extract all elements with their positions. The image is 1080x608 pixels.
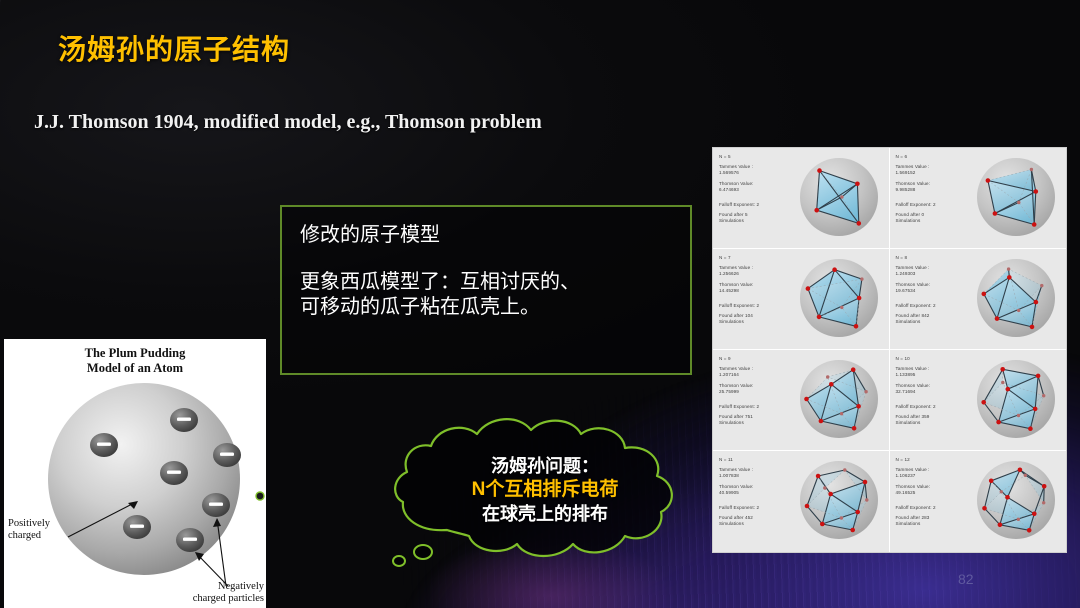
cell-falloff-exponent: Falloff Exponent: 2 <box>719 505 793 511</box>
cell-tammes-value: Tammes Value :1.569152 <box>896 164 970 176</box>
cell-falloff-exponent: Falloff Exponent: 2 <box>719 303 793 309</box>
cell-tammes-value: Tammes Value :1.256626 <box>719 265 793 277</box>
page-subtitle: J.J. Thomson 1904, modified model, e.g.,… <box>34 111 542 134</box>
cell-falloff-exponent: Falloff Exponent: 2 <box>896 404 970 410</box>
cell-thomson-value: Thomson Value:6.474693 <box>719 181 793 193</box>
cell-tammes-value: Tammes Value :1.133895 <box>896 366 970 378</box>
negative-label-line-2: charged particles <box>193 593 264 605</box>
thomson-polyhedron-render <box>968 453 1064 552</box>
thomson-cell-n8: N = 8Tammes Value :1.249303Thomson Value… <box>890 249 1067 350</box>
thomson-polyhedron-render <box>791 453 887 552</box>
page-title: 汤姆孙的原子结构 <box>58 28 290 68</box>
cell-falloff-exponent: Falloff Exponent: 2 <box>896 202 970 208</box>
cell-thomson-value: Thomson Value:25.75999 <box>719 383 793 395</box>
cell-tammes-value: Tammes Value :1.106237 <box>896 467 970 479</box>
cell-tammes-value: Tammes Value :1.007838 <box>719 467 793 479</box>
cell-thomson-value: Thomson Value:19.67534 <box>896 282 970 294</box>
polyhedron-sphere-icon <box>968 150 1064 244</box>
cell-thomson-value: Thomson Value:14.45298 <box>719 282 793 294</box>
cloud-line-1: 汤姆孙问题： <box>385 454 705 478</box>
thomson-problem-cloud-callout: 汤姆孙问题： N个互相排斥电荷 在球壳上的排布 <box>385 412 705 570</box>
cloud-line-3: 在球壳上的排布 <box>385 502 705 526</box>
thomson-cell-info: N = 10Tammes Value :1.133895Thomson Valu… <box>896 356 970 431</box>
thomson-polyhedron-render <box>968 150 1064 249</box>
polyhedron-sphere-icon <box>791 352 887 446</box>
thomson-polyhedron-render <box>791 352 887 451</box>
thomson-cell-info: N = 8Tammes Value :1.249303Thomson Value… <box>896 255 970 330</box>
thomson-polyhedron-render <box>968 352 1064 451</box>
page-number: 82 <box>958 571 974 587</box>
plum-pudding-negative-label: Negatively charged particles <box>193 581 264 605</box>
plum-pudding-diagram-icon <box>4 339 266 608</box>
thomson-cell-info: N = 5Tammes Value :1.569576Thomson Value… <box>719 154 793 229</box>
thomson-cell-n11: N = 11Tammes Value :1.007838Thomson Valu… <box>713 451 890 552</box>
cell-found-after: Found after 751Simulations <box>719 414 793 426</box>
thomson-polyhedron-render <box>791 150 887 249</box>
polyhedron-sphere-icon <box>791 453 887 547</box>
cell-n-label: N = 9 <box>719 356 793 362</box>
cell-falloff-exponent: Falloff Exponent: 2 <box>896 505 970 511</box>
polyhedron-sphere-icon <box>968 251 1064 345</box>
model-description-box: 修改的原子模型 更象西瓜模型了：互相讨厌的、 可移动的瓜子粘在瓜壳上。 <box>280 205 692 375</box>
thomson-cell-info: N = 9Tammes Value :1.207164Thomson Value… <box>719 356 793 431</box>
cell-falloff-exponent: Falloff Exponent: 2 <box>719 404 793 410</box>
cell-n-label: N = 6 <box>896 154 970 160</box>
thomson-cell-n12: N = 12Tammes Value :1.106237Thomson Valu… <box>890 451 1067 552</box>
polyhedron-sphere-icon <box>968 352 1064 446</box>
plum-pudding-figure: The Plum Pudding Model of an Atom <box>4 339 266 608</box>
model-description-line-1: 修改的原子模型 <box>300 223 672 248</box>
cell-thomson-value: Thomson Value:32.71694 <box>896 383 970 395</box>
model-description-line-3: 可移动的瓜子粘在瓜壳上。 <box>300 295 672 320</box>
thomson-cell-n10: N = 10Tammes Value :1.133895Thomson Valu… <box>890 350 1067 451</box>
thomson-polyhedron-render <box>968 251 1064 350</box>
polyhedron-sphere-icon <box>791 150 887 244</box>
cell-tammes-value: Tammes Value :1.249303 <box>896 265 970 277</box>
cell-n-label: N = 12 <box>896 457 970 463</box>
cloud-line-2: N个互相排斥电荷 <box>385 478 705 502</box>
cell-falloff-exponent: Falloff Exponent: 2 <box>719 202 793 208</box>
cell-tammes-value: Tammes Value :1.569576 <box>719 164 793 176</box>
slide-canvas: 汤姆孙的原子结构 J.J. Thomson 1904, modified mod… <box>0 0 1080 608</box>
cell-thomson-value: Thomson Value:49.16525 <box>896 484 970 496</box>
cell-found-after: Found after 452Simulations <box>719 515 793 527</box>
thomson-cell-info: N = 6Tammes Value :1.569152Thomson Value… <box>896 154 970 229</box>
cell-thomson-value: Thomson Value:9.985288 <box>896 181 970 193</box>
cell-n-label: N = 8 <box>896 255 970 261</box>
cell-falloff-exponent: Falloff Exponent: 2 <box>896 303 970 309</box>
polyhedron-sphere-icon <box>791 251 887 345</box>
cell-found-after: Found after 5Simulations <box>719 212 793 224</box>
cell-tammes-value: Tammes Value :1.207164 <box>719 366 793 378</box>
negative-label-line-1: Negatively <box>193 581 264 593</box>
model-description-line-2: 更象西瓜模型了：互相讨厌的、 <box>300 270 672 295</box>
cell-n-label: N = 5 <box>719 154 793 160</box>
thomson-cell-info: N = 11Tammes Value :1.007838Thomson Valu… <box>719 457 793 532</box>
cell-found-after: Found after 359Simulations <box>896 414 970 426</box>
thomson-cell-n6: N = 6Tammes Value :1.569152Thomson Value… <box>890 148 1067 249</box>
thomson-cell-info: N = 12Tammes Value :1.106237Thomson Valu… <box>896 457 970 532</box>
cell-n-label: N = 11 <box>719 457 793 463</box>
spacer <box>300 248 672 270</box>
cell-n-label: N = 10 <box>896 356 970 362</box>
thomson-cell-n9: N = 9Tammes Value :1.207164Thomson Value… <box>713 350 890 451</box>
cell-n-label: N = 7 <box>719 255 793 261</box>
cell-thomson-value: Thomson Value:40.59905 <box>719 484 793 496</box>
thomson-polyhedron-render <box>791 251 887 350</box>
positive-label-line-1: Positively <box>8 518 50 530</box>
plum-pudding-positive-label: Positively charged <box>8 518 50 542</box>
thomson-cell-info: N = 7Tammes Value :1.256626Thomson Value… <box>719 255 793 330</box>
cloud-text-block: 汤姆孙问题： N个互相排斥电荷 在球壳上的排布 <box>385 454 705 526</box>
cell-found-after: Found after 842Simulations <box>896 313 970 325</box>
positive-label-line-2: charged <box>8 530 50 542</box>
thomson-cell-n7: N = 7Tammes Value :1.256626Thomson Value… <box>713 249 890 350</box>
polyhedron-sphere-icon <box>968 453 1064 547</box>
cell-found-after: Found after 104Simulations <box>719 313 793 325</box>
thomson-cell-n5: N = 5Tammes Value :1.569576Thomson Value… <box>713 148 890 249</box>
thomson-problem-grid: N = 5Tammes Value :1.569576Thomson Value… <box>712 147 1067 553</box>
cell-found-after: Found after 0Simulations <box>896 212 970 224</box>
cell-found-after: Found after 283Simulations <box>896 515 970 527</box>
